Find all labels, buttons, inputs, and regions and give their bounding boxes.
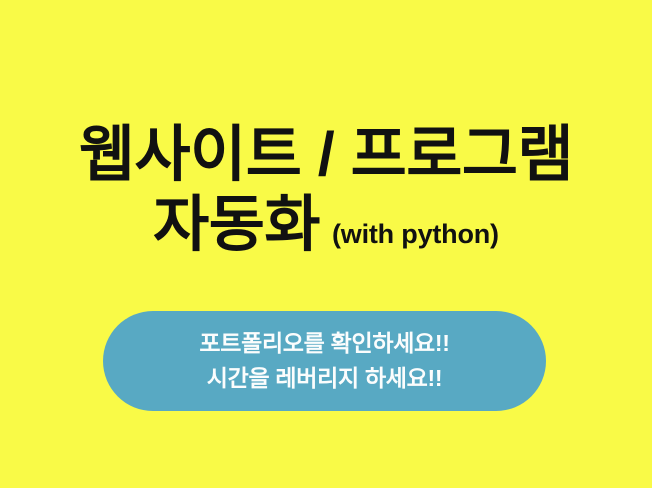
headline-subtitle-with-python: (with python): [332, 200, 499, 268]
headline-line-1: 웹사이트 / 프로그램: [0, 118, 652, 190]
promo-banner: 웹사이트 / 프로그램 자동화 (with python) 포트폴리오를 확인하…: [0, 0, 652, 488]
headline-block: 웹사이트 / 프로그램 자동화 (with python): [0, 118, 652, 270]
cta-line-2: 시간을 레버리지 하세요!!: [207, 363, 443, 394]
headline-line-2: 자동화 (with python): [0, 190, 652, 270]
headline-line-2-main: 자동화: [153, 190, 320, 258]
portfolio-cta-button[interactable]: 포트폴리오를 확인하세요!! 시간을 레버리지 하세요!!: [103, 311, 546, 411]
cta-line-1: 포트폴리오를 확인하세요!!: [199, 328, 449, 359]
